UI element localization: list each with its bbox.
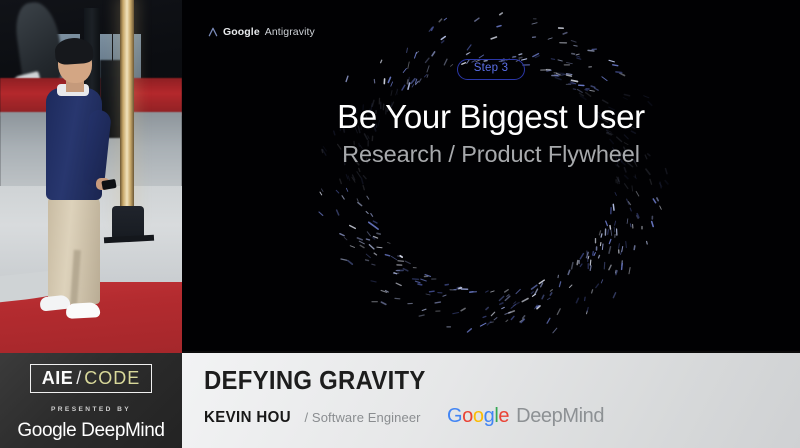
ring-particle xyxy=(426,294,430,295)
aie-code-suffix: CODE xyxy=(84,369,140,387)
ring-particle xyxy=(494,318,497,320)
ring-particle xyxy=(531,292,533,294)
ring-particle xyxy=(337,210,339,215)
ring-particle xyxy=(507,295,509,297)
ring-particle xyxy=(377,233,380,234)
ring-particle xyxy=(541,283,543,287)
ring-particle xyxy=(363,186,364,190)
ring-particle xyxy=(632,186,633,191)
ring-particle xyxy=(359,241,364,244)
ring-particle xyxy=(506,320,508,322)
ring-particle xyxy=(630,224,631,227)
ring-particle xyxy=(321,189,323,192)
ring-particle xyxy=(615,193,616,196)
speaker-camera-feed xyxy=(0,0,182,353)
ring-particle xyxy=(625,176,628,179)
speaker-shoe xyxy=(66,302,101,319)
ring-particle xyxy=(403,269,407,271)
ring-particle xyxy=(542,295,544,298)
ring-particle xyxy=(475,18,479,21)
ring-particle xyxy=(363,176,366,179)
ring-particle xyxy=(422,309,426,310)
google-letter: g xyxy=(484,405,495,427)
antigravity-logo: Google Antigravity xyxy=(208,25,315,39)
ring-particle xyxy=(557,309,560,315)
ring-particle xyxy=(372,264,375,265)
ring-particle xyxy=(348,176,350,181)
ring-particle xyxy=(415,281,420,283)
ring-particle xyxy=(459,287,461,288)
ring-particle xyxy=(627,219,628,224)
ring-particle xyxy=(369,222,374,225)
ring-particle xyxy=(516,289,520,293)
ring-particle xyxy=(486,308,488,310)
ring-particle xyxy=(346,188,347,191)
ring-particle xyxy=(601,234,602,237)
ring-particle xyxy=(500,303,503,304)
ring-particle xyxy=(453,313,459,314)
ring-particle xyxy=(630,208,631,211)
ring-particle xyxy=(652,222,654,227)
ring-particle xyxy=(588,50,594,51)
ring-particle xyxy=(487,322,491,325)
speaker-identity: KEVIN HOU / Software Engineer xyxy=(204,409,421,427)
ring-particle xyxy=(593,252,594,256)
ring-particle xyxy=(442,41,444,43)
ring-particle xyxy=(625,184,628,189)
ring-particle xyxy=(419,315,424,316)
ring-particle xyxy=(576,54,579,55)
ring-particle xyxy=(359,168,360,171)
ring-particle xyxy=(319,212,323,215)
ring-particle xyxy=(548,298,551,300)
ring-particle xyxy=(611,230,612,236)
aie-code-prefix: AIE xyxy=(42,369,74,387)
ring-particle xyxy=(568,270,570,274)
ring-particle xyxy=(550,290,552,292)
ring-particle xyxy=(467,45,471,50)
ring-particle xyxy=(483,316,486,317)
ring-particle xyxy=(371,214,373,217)
ring-particle xyxy=(660,206,662,209)
ring-particle xyxy=(634,246,635,250)
ring-particle xyxy=(535,289,538,295)
ring-particle xyxy=(532,23,537,24)
ring-particle xyxy=(441,37,445,40)
ring-particle xyxy=(646,169,650,174)
ring-particle xyxy=(358,203,362,206)
ring-particle xyxy=(350,226,356,229)
ring-particle xyxy=(587,308,588,312)
ring-particle xyxy=(491,37,496,39)
ring-particle xyxy=(548,38,552,39)
illuminated-column xyxy=(120,0,134,222)
ring-particle xyxy=(519,54,522,55)
ring-particle xyxy=(634,176,636,178)
ring-particle xyxy=(660,182,661,188)
ring-particle xyxy=(601,280,602,283)
ring-particle xyxy=(461,308,465,310)
ring-particle xyxy=(373,221,377,223)
ring-particle xyxy=(590,266,591,271)
ring-particle xyxy=(336,190,339,193)
ring-particle xyxy=(344,237,347,240)
ring-particle xyxy=(559,282,560,287)
ring-particle xyxy=(387,242,390,243)
ring-particle xyxy=(606,221,608,226)
antigravity-caret-icon xyxy=(208,27,218,37)
ring-particle xyxy=(547,318,550,323)
ring-particle xyxy=(532,285,537,289)
slide-title: Be Your Biggest User xyxy=(182,99,800,136)
ring-particle xyxy=(599,255,600,258)
ring-particle xyxy=(505,290,509,292)
particle-ring xyxy=(182,0,800,353)
presentation-slide: Google Antigravity Step 3 Be Your Bigges… xyxy=(182,0,800,353)
ring-particle xyxy=(499,296,503,300)
ring-particle xyxy=(418,284,422,285)
ring-particle xyxy=(650,179,652,184)
ring-particle xyxy=(486,291,489,292)
ring-particle xyxy=(594,253,595,256)
ring-particle xyxy=(374,226,378,229)
ring-particle xyxy=(366,260,369,261)
antigravity-product-text: Antigravity xyxy=(265,26,315,38)
ring-particle xyxy=(622,247,623,252)
ring-particle xyxy=(608,230,609,235)
google-letter: e xyxy=(498,405,509,427)
ring-particle xyxy=(580,254,583,259)
ring-particle xyxy=(454,289,458,290)
ring-particle xyxy=(357,199,358,202)
ring-particle xyxy=(341,259,347,260)
ring-particle xyxy=(505,296,510,300)
ring-particle xyxy=(360,245,364,247)
ring-particle xyxy=(596,284,599,288)
ring-particle xyxy=(657,198,658,201)
ring-particle xyxy=(468,329,472,332)
ring-particle xyxy=(619,244,620,249)
ring-particle xyxy=(576,56,580,58)
ring-particle xyxy=(574,46,577,47)
event-brand-box: AIE / CODE PRESENTED BY Google DeepMind xyxy=(0,353,182,448)
ring-particle xyxy=(569,285,572,288)
ring-particle xyxy=(443,295,446,296)
speaker-role: / Software Engineer xyxy=(305,410,421,425)
ring-particle xyxy=(357,238,362,240)
step-badge: Step 3 xyxy=(457,59,525,80)
google-wordmark: Google xyxy=(447,406,509,426)
ring-particle xyxy=(622,263,623,269)
ring-particle xyxy=(366,239,369,240)
ring-particle xyxy=(413,279,419,280)
ring-particle xyxy=(614,227,615,232)
ring-particle xyxy=(609,247,611,253)
deepmind-wordmark: DeepMind xyxy=(516,406,604,426)
ring-particle xyxy=(523,316,525,318)
ring-particle xyxy=(577,261,578,265)
ring-particle xyxy=(391,256,396,259)
ring-particle xyxy=(665,181,668,184)
ring-particle xyxy=(444,18,447,20)
ring-particle xyxy=(407,48,408,52)
ring-particle xyxy=(340,179,342,183)
ring-particle xyxy=(491,291,494,292)
ring-particle xyxy=(432,52,435,56)
ring-particle xyxy=(599,231,600,235)
ring-particle xyxy=(405,261,410,264)
ring-particle xyxy=(500,13,502,15)
ring-particle xyxy=(400,256,402,257)
ring-particle xyxy=(571,41,576,43)
ring-particle xyxy=(346,175,348,179)
ring-particle xyxy=(550,293,551,295)
speaker-name: KEVIN HOU xyxy=(204,409,291,427)
ring-particle xyxy=(430,291,435,292)
ring-particle xyxy=(580,264,582,267)
ring-particle xyxy=(396,283,401,285)
ring-particle xyxy=(576,298,578,302)
ring-particle xyxy=(439,19,441,22)
google-letter: o xyxy=(473,405,484,427)
ring-particle xyxy=(371,281,376,282)
ring-particle xyxy=(361,178,363,184)
ring-particle xyxy=(480,323,486,326)
ring-particle xyxy=(320,192,322,195)
ring-particle xyxy=(367,196,369,199)
stream-frame: Google Antigravity Step 3 Be Your Bigges… xyxy=(0,0,800,448)
ring-particle xyxy=(367,232,370,236)
ring-particle xyxy=(491,312,494,316)
ring-particle xyxy=(377,247,382,248)
ring-particle xyxy=(609,239,611,243)
ring-particle xyxy=(366,254,370,258)
ring-particle xyxy=(509,311,515,313)
aie-code-separator: / xyxy=(76,369,81,387)
ring-particle xyxy=(421,279,427,281)
presented-by-label: PRESENTED BY xyxy=(51,406,131,413)
slide-text-block: Step 3 Be Your Biggest User Research / P… xyxy=(182,58,800,168)
ring-particle xyxy=(636,192,639,197)
ring-particle xyxy=(435,302,440,303)
ring-particle xyxy=(613,204,614,210)
ring-particle xyxy=(374,253,376,255)
aie-code-logo: AIE / CODE xyxy=(30,364,153,393)
ring-particle xyxy=(609,265,611,270)
ring-particle xyxy=(373,237,375,239)
google-letter: G xyxy=(447,405,462,427)
ring-particle xyxy=(491,322,494,323)
ring-particle xyxy=(572,54,575,55)
ring-particle xyxy=(366,212,368,214)
ring-particle xyxy=(511,316,514,319)
ring-particle xyxy=(348,261,352,265)
ring-particle xyxy=(381,302,385,304)
ring-particle xyxy=(340,234,344,236)
ring-particle xyxy=(600,243,601,246)
ring-particle xyxy=(590,260,591,265)
ring-particle xyxy=(369,245,374,249)
ring-particle xyxy=(617,180,618,184)
ring-particle xyxy=(514,302,516,304)
ring-particle xyxy=(572,263,573,269)
ring-particle xyxy=(357,172,361,177)
google-deepmind-logo: Google DeepMind xyxy=(447,406,604,426)
ring-particle xyxy=(610,226,611,229)
ring-particle xyxy=(385,255,389,256)
ring-particle xyxy=(342,196,344,199)
ring-particle xyxy=(350,246,354,248)
ring-particle xyxy=(653,199,655,203)
sponsor-logo-text: Google DeepMind xyxy=(17,421,164,440)
lower-third-banner: DEFYING GRAVITY KEVIN HOU / Software Eng… xyxy=(182,353,800,448)
ring-particle xyxy=(553,328,557,333)
google-letter: o xyxy=(462,405,473,427)
ring-particle xyxy=(629,268,630,274)
ring-particle xyxy=(563,33,567,34)
ring-particle xyxy=(602,244,603,250)
ring-particle xyxy=(615,221,616,225)
ring-particle xyxy=(592,290,593,293)
ring-particle xyxy=(613,293,615,298)
slide-subtitle: Research / Product Flywheel xyxy=(182,141,800,168)
ring-particle xyxy=(647,241,648,244)
ring-particle xyxy=(666,169,668,174)
ring-particle xyxy=(497,26,501,27)
speaker-hair xyxy=(54,37,94,66)
ring-particle xyxy=(502,307,505,308)
antigravity-brand-text: Google xyxy=(223,26,260,38)
event-title: DEFYING GRAVITY xyxy=(204,365,426,396)
ring-particle xyxy=(626,241,627,247)
ring-particle xyxy=(522,299,528,302)
